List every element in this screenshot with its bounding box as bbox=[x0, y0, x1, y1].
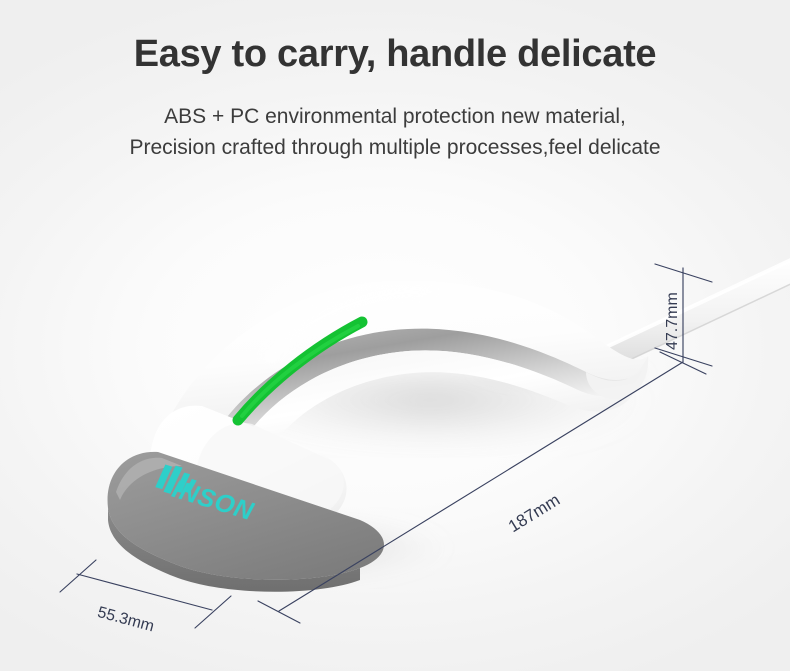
product-feature-banner: Easy to carry, handle delicate ABS + PC … bbox=[0, 0, 790, 671]
dimension-label-height: 47.7mm bbox=[664, 292, 682, 350]
dimension-line-length bbox=[258, 352, 706, 623]
